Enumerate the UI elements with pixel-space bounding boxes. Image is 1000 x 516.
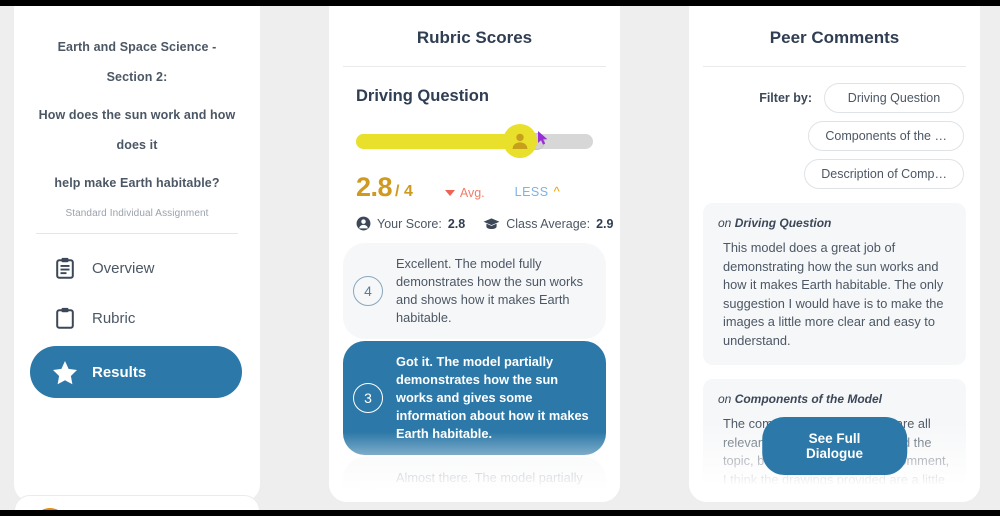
class-average-value: 2.9: [596, 217, 613, 231]
score-value: 2.8: [356, 172, 392, 203]
comment-1-topic: Driving Question: [735, 216, 832, 230]
assignment-title-line-2: How does the sun work and how does it: [30, 92, 244, 160]
slider-fill: [356, 134, 522, 149]
triangle-down-icon: [445, 190, 455, 196]
filter-by-label: Filter by:: [759, 91, 812, 105]
less-toggle[interactable]: LESS ^: [515, 185, 561, 199]
assignment-title-line-3: help make Earth habitable?: [30, 160, 244, 198]
mouse-cursor-icon: [537, 131, 549, 145]
rubric-level-2[interactable]: 2 Almost there. The model partially demo…: [343, 457, 606, 502]
your-score-label: Your Score:: [377, 217, 442, 231]
score-legend: Your Score: 2.8 Class Average: 2.9: [356, 216, 620, 231]
rubric-level-3-text: Got it. The model partially demonstrates…: [396, 353, 592, 443]
your-score-value: 2.8: [448, 217, 465, 231]
star-icon: [52, 359, 78, 385]
peer-comments-title-divider: [703, 66, 966, 67]
user-profile-chip[interactable]: Numbers Eisenman: [14, 495, 260, 510]
person-icon: [509, 130, 531, 152]
comment-item-1: on Driving Question This model does a gr…: [703, 203, 966, 365]
legend-class-average: Class Average: 2.9: [483, 217, 613, 231]
filter-row-1: Filter by: Driving Question: [705, 83, 964, 113]
assignment-subtitle: Standard Individual Assignment: [30, 208, 244, 219]
see-full-dialogue-button[interactable]: See Full Dialogue: [762, 417, 908, 475]
comment-2-topic-line: on Components of the Model: [718, 392, 951, 406]
sidebar-item-results[interactable]: Results: [30, 346, 242, 398]
legend-your-score: Your Score: 2.8: [356, 216, 465, 231]
bottom-black-bar: [0, 510, 1000, 516]
comment-1-topic-line: on Driving Question: [718, 216, 951, 230]
comment-1-body: This model does a great job of demonstra…: [718, 239, 951, 350]
sidebar-item-overview-label: Overview: [92, 260, 155, 277]
rubric-level-4-number: 4: [353, 276, 383, 306]
assignment-title: Earth and Space Science - Section 2: How…: [30, 24, 244, 198]
person-circle-icon: [356, 216, 371, 231]
sidebar-item-rubric[interactable]: Rubric: [30, 296, 244, 340]
filter-row-3: Description of Comp…: [705, 159, 964, 189]
sidebar-nav: Overview Rubric Results: [30, 246, 244, 398]
comment-2-topic: Components of the Model: [735, 392, 882, 406]
sidebar-item-results-label: Results: [92, 364, 146, 381]
comment-2-on-prefix: on: [718, 392, 735, 406]
filter-row-2: Components of the …: [705, 121, 964, 151]
filter-chip-description[interactable]: Description of Comp…: [804, 159, 964, 189]
score-summary-row: 2.8 / 4 Avg. LESS ^: [356, 172, 620, 202]
sidebar-panel: Earth and Space Science - Section 2: How…: [14, 6, 260, 502]
rubric-level-3[interactable]: 3 Got it. The model partially demonstrat…: [343, 341, 606, 455]
class-average-label: Class Average:: [506, 217, 590, 231]
filter-chip-driving-question[interactable]: Driving Question: [824, 83, 964, 113]
comment-1-on-prefix: on: [718, 216, 735, 230]
rubric-level-4-text: Excellent. The model fully demonstrates …: [396, 255, 592, 327]
rubric-level-4[interactable]: 4 Excellent. The model fully demonstrate…: [343, 243, 606, 339]
rubric-level-2-number: 2: [353, 490, 383, 502]
score-slider[interactable]: [356, 124, 593, 158]
avg-label: Avg.: [460, 186, 485, 200]
score-denominator: / 4: [395, 183, 413, 201]
rubric-level-2-text: Almost there. The model partially demons…: [396, 469, 592, 502]
peer-comments-title: Peer Comments: [689, 6, 980, 48]
criterion-name: Driving Question: [356, 87, 620, 106]
less-label: LESS: [515, 185, 549, 199]
rubric-level-3-number: 3: [353, 383, 383, 413]
rubric-levels-list: 4 Excellent. The model fully demonstrate…: [343, 243, 606, 502]
filter-chip-components[interactable]: Components of the …: [808, 121, 964, 151]
sidebar-item-rubric-label: Rubric: [92, 310, 135, 327]
slider-thumb-your-score[interactable]: [503, 124, 537, 158]
assignment-title-line-1: Earth and Space Science - Section 2:: [30, 24, 244, 92]
filter-area: Filter by: Driving Question Components o…: [689, 83, 980, 189]
rubric-scores-title: Rubric Scores: [329, 6, 620, 48]
clipboard-icon: [52, 305, 78, 331]
rubric-scores-panel: Rubric Scores Driving Question 2.8 / 4: [329, 6, 620, 502]
app-screen: Earth and Space Science - Section 2: How…: [0, 6, 1000, 510]
sidebar-divider: [36, 233, 238, 234]
rubric-title-divider: [343, 66, 606, 67]
avg-indicator: Avg.: [445, 186, 485, 200]
sidebar-item-overview[interactable]: Overview: [30, 246, 244, 290]
chevron-up-icon: ^: [554, 187, 561, 197]
peer-comments-panel: Peer Comments Filter by: Driving Questio…: [689, 6, 980, 502]
clipboard-list-icon: [52, 255, 78, 281]
graduation-cap-icon: [483, 217, 500, 231]
avatar: [33, 508, 67, 510]
